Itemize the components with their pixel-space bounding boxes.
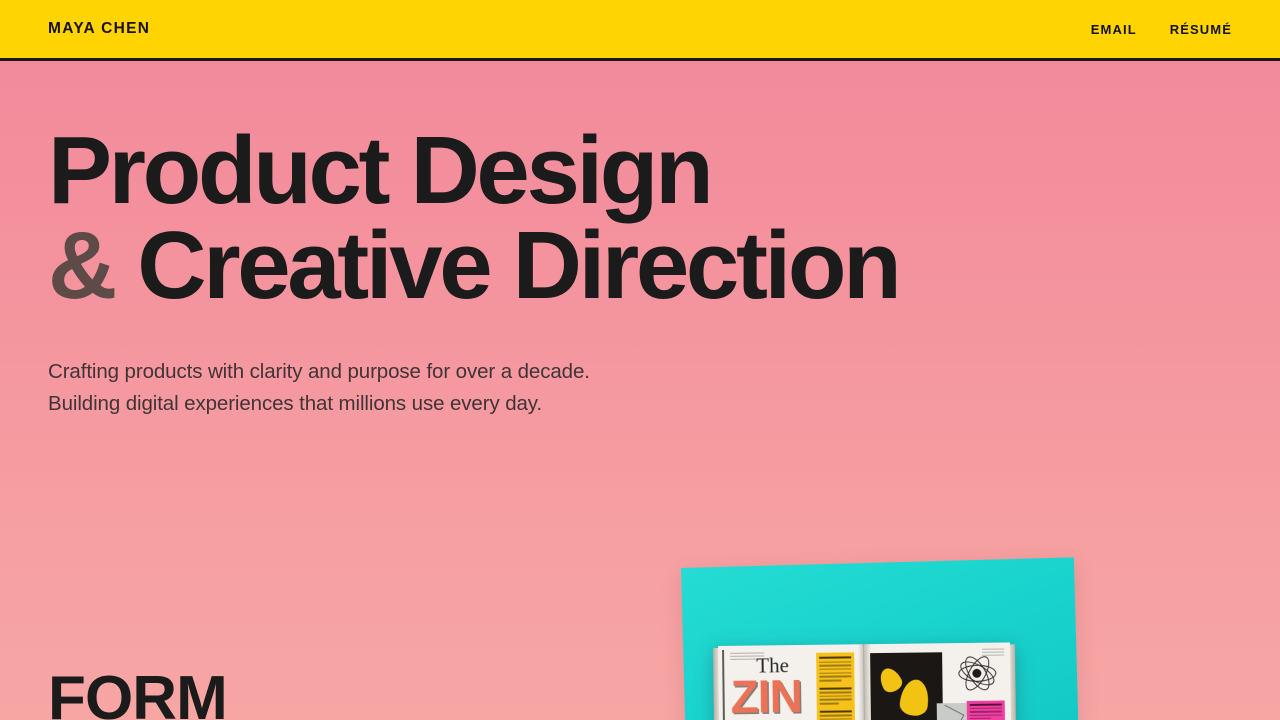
page-edge-line <box>722 650 725 720</box>
hero-title-line-1: Product Design <box>48 117 710 224</box>
brand-logo[interactable]: MAYA CHEN <box>48 21 150 37</box>
hero-title-ampersand: & <box>48 212 114 319</box>
hero-section: Product Design & Creative Direction Craf… <box>0 61 1280 420</box>
atom-diagram-icon <box>956 653 999 696</box>
page-root: MAYA CHEN EMAIL RÉSUMÉ Product Design & … <box>0 0 1280 720</box>
nav-link-email[interactable]: EMAIL <box>1091 23 1137 36</box>
page-title: Product Design & Creative Direction <box>48 123 1280 313</box>
magazine-page-right <box>864 642 1011 720</box>
hero-subtitle: Crafting products with clarity and purpo… <box>48 356 1280 420</box>
primary-nav: EMAIL RÉSUMÉ <box>1091 23 1232 36</box>
nav-link-resume[interactable]: RÉSUMÉ <box>1170 23 1232 36</box>
zine-title-word: ZIN <box>730 673 802 720</box>
book-gutter-shadow <box>858 644 872 720</box>
yellow-drop-shape <box>898 678 930 717</box>
magazine-page-left: The ZIN <box>718 644 865 720</box>
zine-yellow-column <box>816 652 855 720</box>
section-heading-form: FORM <box>48 668 227 720</box>
zine-pink-sticky-note <box>967 701 1005 720</box>
site-header: MAYA CHEN EMAIL RÉSUMÉ <box>0 0 1280 61</box>
hero-title-line-2: Creative Direction <box>114 212 898 319</box>
zine-black-panel <box>870 652 943 720</box>
zine-gray-card <box>937 703 969 720</box>
hero-subtitle-line-2: Building digital experiences that millio… <box>48 388 1280 420</box>
open-magazine: The ZIN <box>718 642 1011 720</box>
yellow-drop-shape <box>876 665 905 695</box>
magazine-photo: The ZIN <box>672 556 1092 720</box>
hero-subtitle-line-1: Crafting products with clarity and purpo… <box>48 356 1280 388</box>
